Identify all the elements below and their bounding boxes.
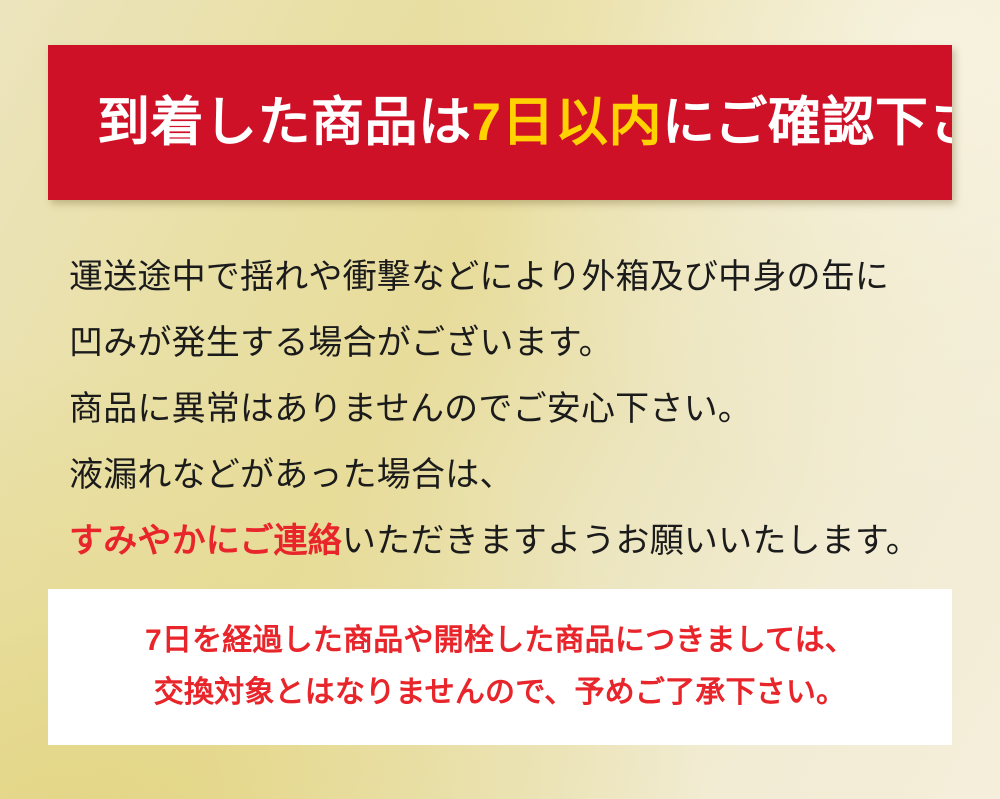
header-banner-text-before: 到着した商品は: [97, 93, 472, 152]
notice-line-2: 交換対象とはなりませんので、予めご了承下さい。: [154, 667, 847, 719]
body-paragraph: 運送途中で揺れや衝撃などにより外箱及び中身の缶に 凹みが発生する場合がございます…: [69, 244, 949, 574]
body-line-2-text: 凹みが発生する場合がございます。: [69, 326, 613, 360]
header-banner-highlight: 7日以内: [472, 93, 662, 152]
body-line-1: 運送途中で揺れや衝撃などにより外箱及び中身の缶に: [69, 244, 949, 310]
header-banner-text: 到着した商品は7日以内にご確認下さい: [48, 96, 952, 149]
body-line-1-text: 運送途中で揺れや衝撃などにより外箱及び中身の缶に: [69, 260, 889, 294]
body-line-3-text: 商品に異常はありませんのでご安心下さい。: [69, 392, 752, 426]
body-line-5: すみやかにご連絡いただきますようお願いいたします。: [69, 508, 949, 574]
body-line-2: 凹みが発生する場合がございます。: [69, 310, 949, 376]
notice-page: 到着した商品は7日以内にご確認下さい 運送途中で揺れや衝撃などにより外箱及び中身…: [0, 0, 1000, 799]
body-line-3: 商品に異常はありませんのでご安心下さい。: [69, 376, 949, 442]
body-line-5-emphasis: すみやかにご連絡: [69, 524, 342, 558]
body-line-4: 液漏れなどがあった場合は、: [69, 442, 949, 508]
header-banner: 到着した商品は7日以内にご確認下さい: [48, 45, 952, 200]
header-banner-text-after: にご確認下さい: [662, 93, 952, 152]
body-line-5-text: いただきますようお願いいたします。: [342, 524, 920, 558]
notice-line-1: 7日を経過した商品や開栓した商品につきましては、: [145, 615, 855, 667]
body-line-4-text: 液漏れなどがあった場合は、: [69, 458, 514, 492]
notice-box: 7日を経過した商品や開栓した商品につきましては、 交換対象とはなりませんので、予…: [48, 589, 952, 745]
